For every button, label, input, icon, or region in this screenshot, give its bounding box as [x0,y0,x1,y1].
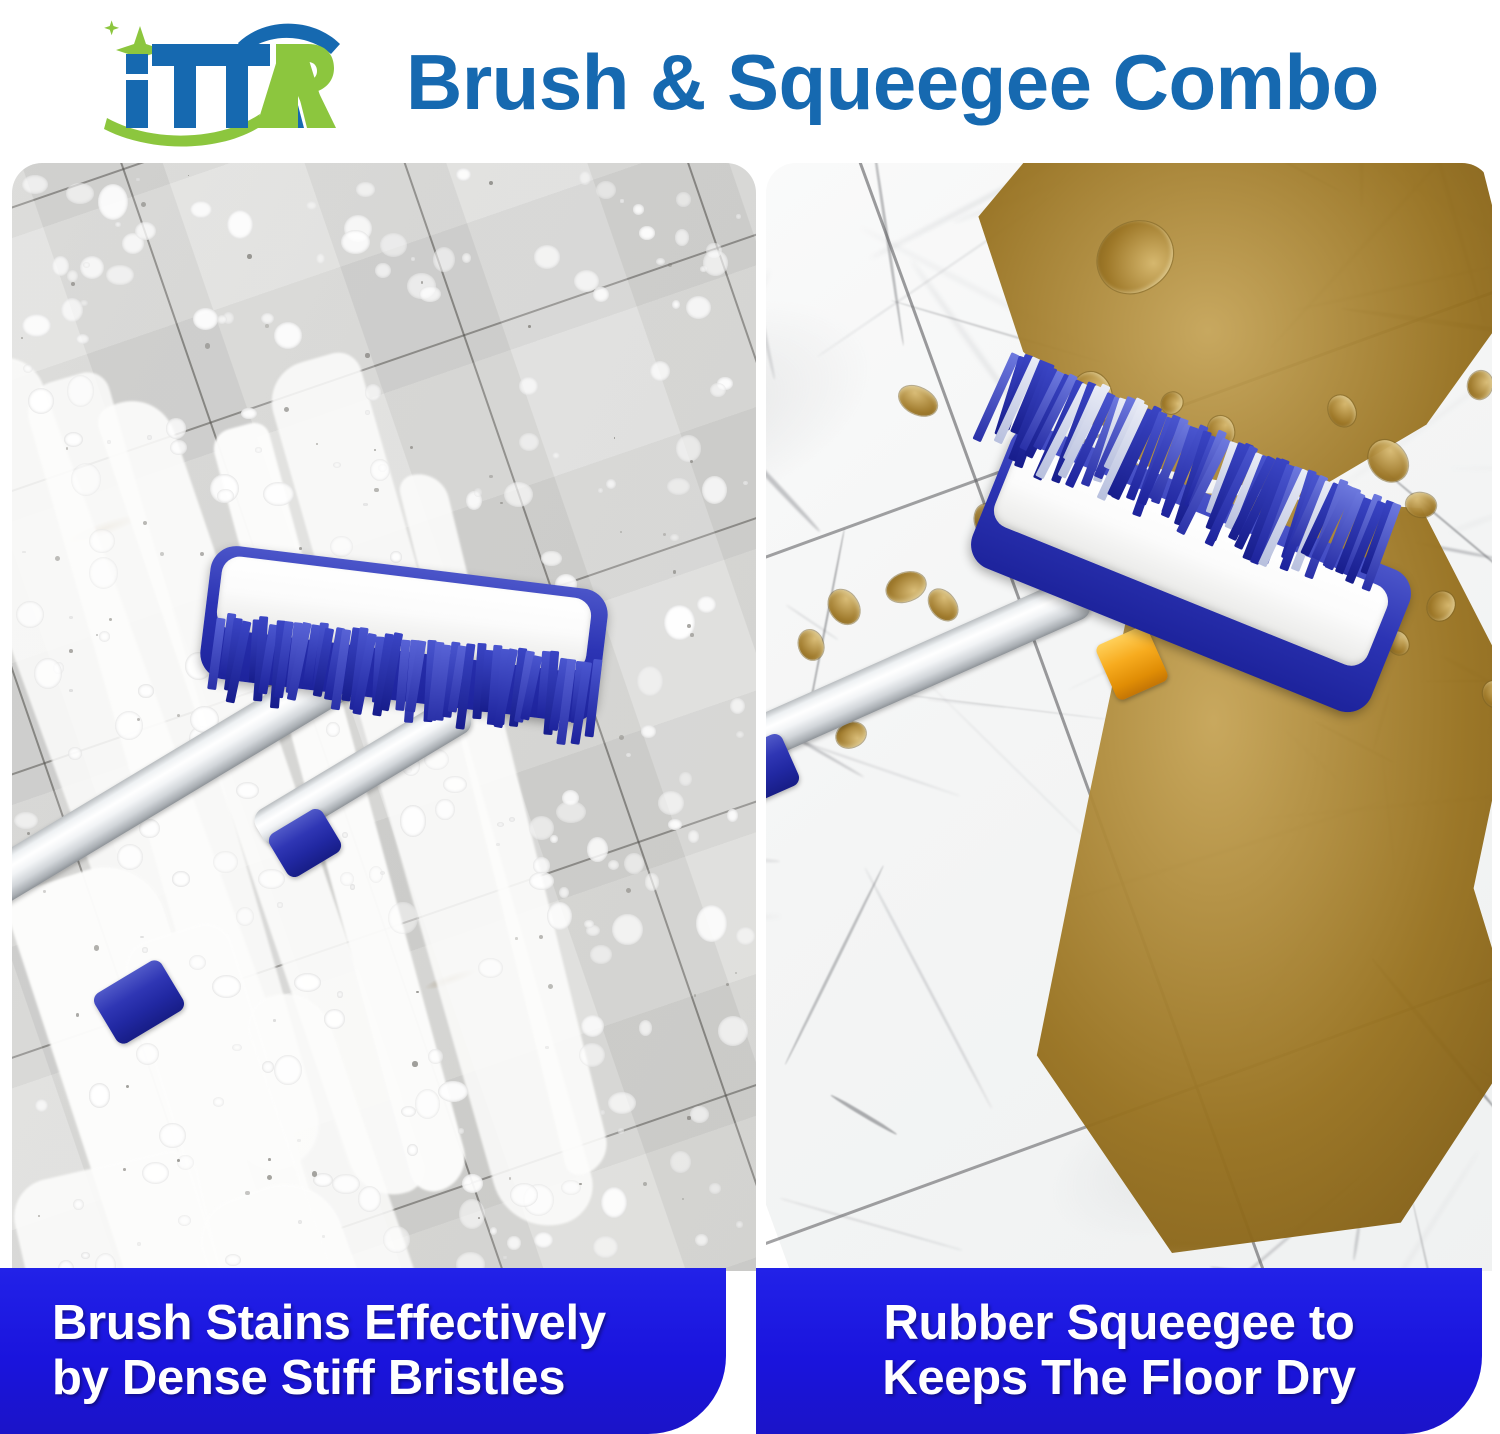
panel-left-brush-scene [12,163,756,1271]
caption-banner-left: Brush Stains Effectively by Dense Stiff … [0,1268,726,1434]
caption-line: Keeps The Floor Dry [882,1351,1356,1406]
blue-grip-ring [91,957,188,1047]
brand-logo [52,10,352,150]
caption-banner-right: Rubber Squeegee to Keeps The Floor Dry [756,1268,1482,1434]
logo-letter-t2-stem [226,44,248,128]
logo-letter-i-stem [126,80,148,128]
telescoping-pole [766,574,1094,805]
caption-line: Brush Stains Effectively [24,1296,606,1351]
brush-squeegee-tool-left [12,163,756,1271]
caption-line: Rubber Squeegee to [883,1296,1354,1351]
brand-logo-svg [52,10,352,150]
caption-banners: Brush Stains Effectively by Dense Stiff … [0,1268,1500,1434]
brush-squeegee-tool-right [766,163,1492,1271]
page-header: Brush & Squeegee Combo [0,0,1500,160]
page-title: Brush & Squeegee Combo [406,43,1379,121]
sparkle-star-icon [104,20,119,35]
product-image-panels [0,163,1500,1271]
logo-letter-t1-stem [174,44,196,128]
logo-letter-i-dot [126,54,148,74]
panel-right-squeegee-scene [766,163,1492,1271]
caption-line: by Dense Stiff Bristles [24,1351,565,1406]
